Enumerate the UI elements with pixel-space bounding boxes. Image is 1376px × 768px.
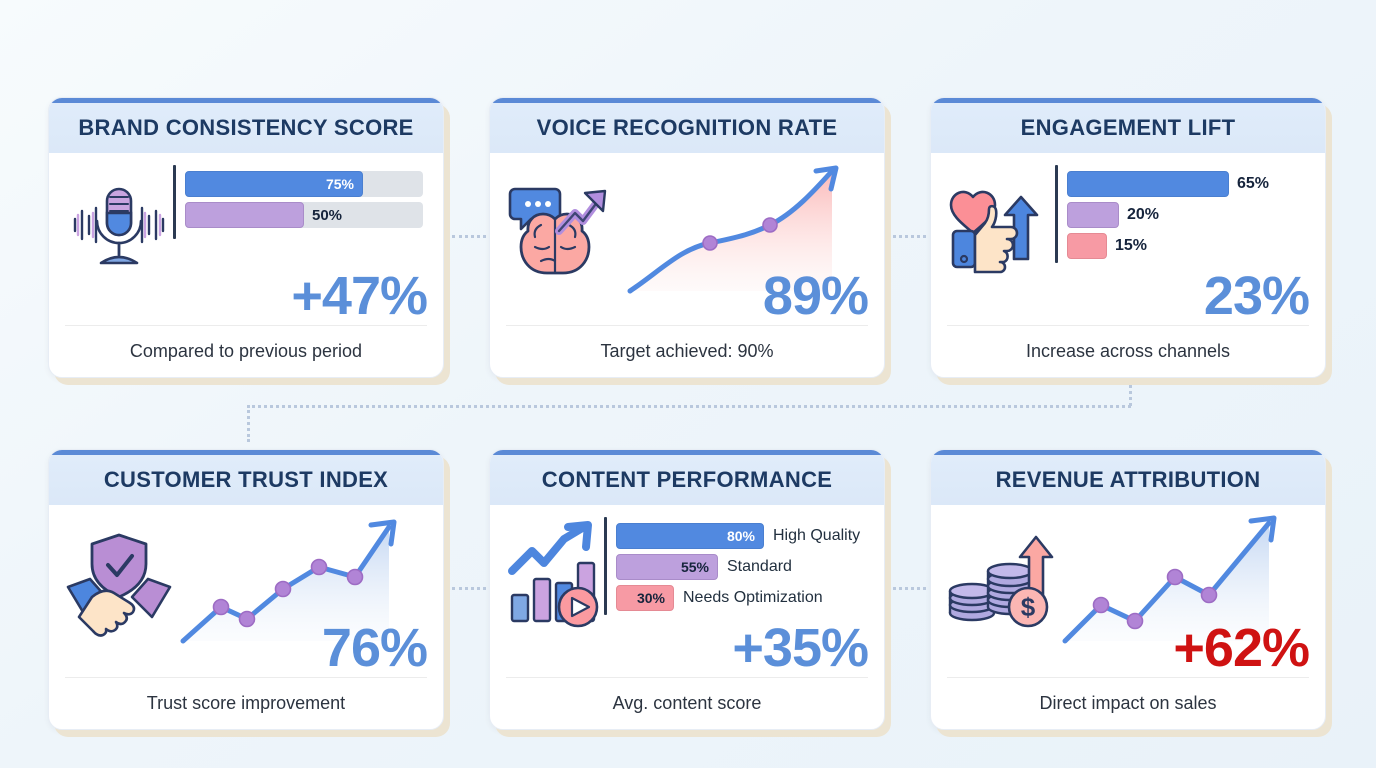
bar-value: 75% [326,176,354,192]
primary-stat: +62% [1173,621,1309,675]
card-body: 80% High Quality 55% Standard [490,505,884,677]
kpi-card-grid: BRAND CONSISTENCY SCORE [0,0,1376,768]
data-point [348,570,363,585]
data-point [214,600,229,615]
card-title: ENGAGEMENT LIFT [1021,115,1236,141]
footer-caption: Compared to previous period [130,341,362,362]
bar-row: 50% [185,202,427,228]
data-point [276,582,291,597]
chart-axis-line [173,165,176,239]
card-voice-recognition-rate[interactable]: VOICE RECOGNITION RATE [489,97,885,378]
data-point [703,236,717,250]
card-header: CONTENT PERFORMANCE [490,455,884,505]
card-footer: Increase across channels [947,325,1309,377]
bar-value: 20% [1127,206,1159,224]
bar-row: 55% Standard [616,554,868,580]
card-header: ENGAGEMENT LIFT [931,103,1325,153]
card-footer: Direct impact on sales [947,677,1309,729]
footer-caption: Trust score improvement [147,693,345,714]
card-brand-consistency-score[interactable]: BRAND CONSISTENCY SCORE [48,97,444,378]
card-content-performance[interactable]: CONTENT PERFORMANCE [489,449,885,730]
bar-value: 55% [681,559,709,575]
card-body: 76% [49,505,443,677]
data-point [1094,598,1109,613]
bar-value: 15% [1115,237,1147,255]
svg-text:$: $ [1021,592,1036,622]
bar-row: 20% [1067,202,1309,228]
bar-value: 65% [1237,175,1269,193]
card-body: 65% 20% 15% 23% [931,153,1325,325]
bar-category-label: Needs Optimization [683,589,823,607]
bar-row: 30% Needs Optimization [616,585,868,611]
thumbs-up-heart-arrow-icon [947,161,1055,281]
chart-axis-line [604,517,607,615]
brain-chat-growth-icon [506,161,614,281]
card-body: 89% [490,153,884,325]
footer-caption: Avg. content score [613,693,762,714]
primary-stat: +47% [291,269,427,323]
card-title: CUSTOMER TRUST INDEX [104,467,388,493]
card-header: CUSTOMER TRUST INDEX [49,455,443,505]
bar-row: 15% [1067,233,1309,259]
bar-category-label: High Quality [773,527,860,545]
card-footer: Target achieved: 90% [506,325,868,377]
card-engagement-lift[interactable]: ENGAGEMENT LIFT [930,97,1326,378]
card-revenue-attribution[interactable]: REVENUE ATTRIBUTION [930,449,1326,730]
card-title: REVENUE ATTRIBUTION [996,467,1261,493]
microphone-soundwave-icon [65,161,173,281]
card-footer: Trust score improvement [65,677,427,729]
data-point [312,560,327,575]
card-header: VOICE RECOGNITION RATE [490,103,884,153]
card-body: $ [931,505,1325,677]
primary-stat: 23% [1204,269,1309,323]
card-title: CONTENT PERFORMANCE [542,467,832,493]
bar-value: 50% [312,207,342,224]
card-footer: Compared to previous period [65,325,427,377]
handshake-shield-check-icon [65,513,173,633]
footer-caption: Target achieved: 90% [600,341,773,362]
bar-value: 80% [727,528,755,544]
data-point [240,612,255,627]
footer-caption: Direct impact on sales [1039,693,1216,714]
card-title: BRAND CONSISTENCY SCORE [78,115,413,141]
card-title: VOICE RECOGNITION RATE [537,115,838,141]
data-point [1128,614,1143,629]
bar-category-label: Standard [727,558,792,576]
chart-axis-line [1055,165,1058,263]
card-body: 75% 50% +47% [49,153,443,325]
coin-stack-dollar-arrow-icon: $ [947,513,1055,633]
data-point [763,218,777,232]
bar-row: 75% [185,171,427,197]
data-point [1202,588,1217,603]
bar-row: 80% High Quality [616,523,868,549]
card-customer-trust-index[interactable]: CUSTOMER TRUST INDEX [48,449,444,730]
bar-value: 30% [637,590,665,606]
card-header: REVENUE ATTRIBUTION [931,455,1325,505]
card-header: BRAND CONSISTENCY SCORE [49,103,443,153]
card-footer: Avg. content score [506,677,868,729]
primary-stat: +35% [732,621,868,675]
data-point [1168,570,1183,585]
bar-chart-arrow-play-icon [506,513,604,633]
primary-stat: 89% [763,269,868,323]
primary-stat: 76% [322,621,427,675]
footer-caption: Increase across channels [1026,341,1230,362]
bar-row: 65% [1067,171,1309,197]
